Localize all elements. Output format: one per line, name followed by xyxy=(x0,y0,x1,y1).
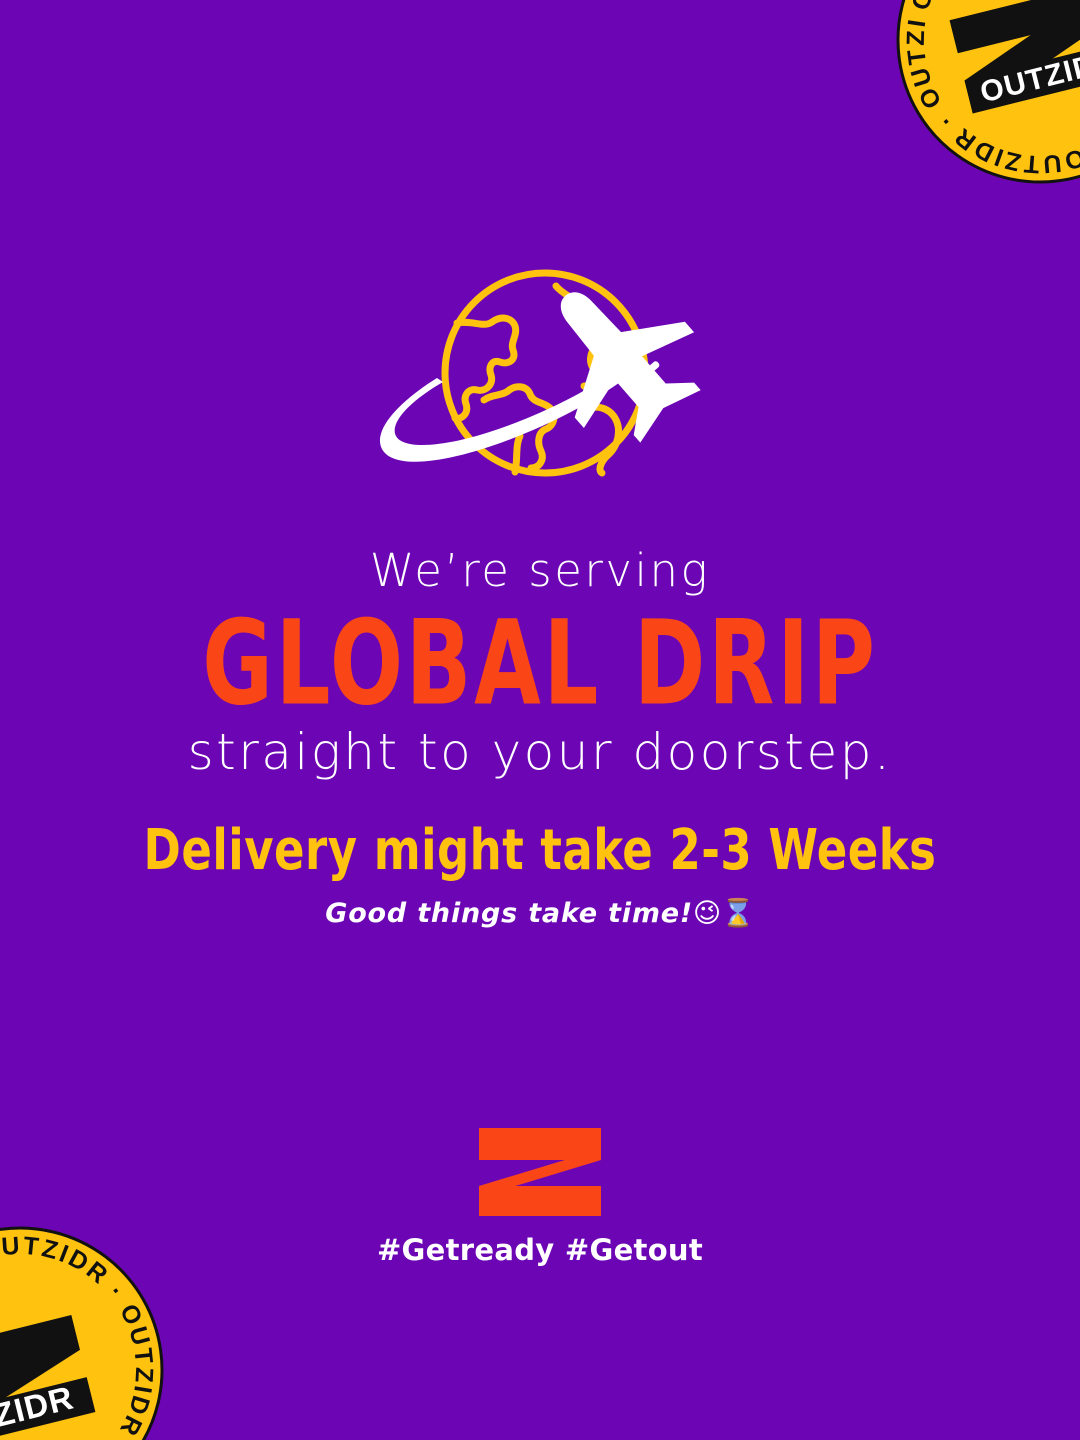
footer-brand-block: #Getready #Getout xyxy=(0,1126,1080,1265)
headline-tail: straight to your doorstep. xyxy=(0,727,1080,777)
delivery-headline: Delivery might take 2-3 Weeks xyxy=(0,822,1080,878)
headline-block: We’re serving GLOBAL DRIP straight to yo… xyxy=(0,548,1080,777)
delivery-subnote-text: Good things take time! xyxy=(325,898,693,929)
delivery-notice-block: Delivery might take 2-3 Weeks Good thing… xyxy=(0,822,1080,927)
headline-eyebrow: We’re serving xyxy=(0,548,1080,593)
delivery-subnote: Good things take time!😉⌛ xyxy=(0,900,1080,927)
outzidr-badge-top-right: OUTZIDR · OUTZIDR · OUTZIDR · OUTZIDR · … xyxy=(864,0,1080,216)
headline-emphasis: GLOBAL DRIP xyxy=(43,605,1037,721)
outzidr-z-logo xyxy=(477,1126,603,1218)
delivery-subnote-emoji: 😉⌛ xyxy=(693,898,755,929)
globe-airplane-illustration xyxy=(360,268,720,508)
footer-hashtags: #Getready #Getout xyxy=(0,1236,1080,1265)
poster-canvas: OUTZIDR · OUTZIDR · OUTZIDR · OUTZIDR · … xyxy=(0,0,1080,1440)
